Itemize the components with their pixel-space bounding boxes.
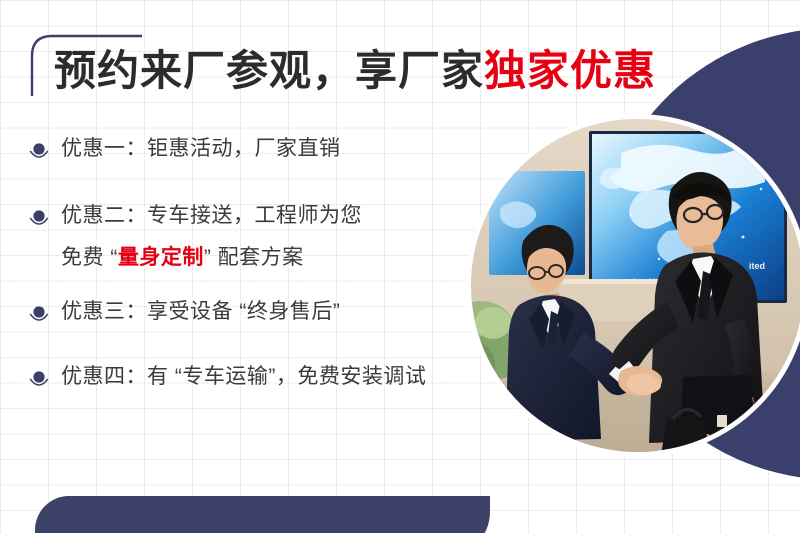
- subtext-highlight: 量身定制: [118, 246, 204, 269]
- circle-arc-bullet-icon: [28, 206, 50, 232]
- handshake-illustration: ing United ited: [471, 119, 800, 452]
- circle-arc-bullet-icon: [28, 367, 50, 393]
- list-item-text: 优惠三：享受设备 “终身售后”: [61, 299, 458, 325]
- list-item: 优惠二：专车接送，工程师为您 免费 “量身定制” 配套方案: [28, 203, 458, 272]
- navy-bottom-bar: [35, 496, 490, 533]
- list-item-subtext: 免费 “量身定制” 配套方案: [61, 245, 362, 271]
- circle-arc-bullet-icon: [28, 302, 50, 328]
- subtext-suffix: ” 配套方案: [204, 246, 304, 269]
- headline-highlight: 独家优惠: [484, 47, 656, 94]
- subtext-prefix: 免费 “: [61, 246, 118, 269]
- promo-banner: ing United ited: [0, 0, 800, 533]
- business-handshake-photo: ing United ited: [466, 114, 800, 457]
- list-item: 优惠一：钜惠活动，厂家直销: [28, 136, 458, 165]
- benefit-list: 优惠一：钜惠活动，厂家直销 优惠二：专车接送，工程师为您 免费 “量身定制” 配…: [28, 136, 458, 393]
- list-item-text: 优惠二：专车接送，工程师为您: [61, 203, 362, 229]
- list-item: 优惠四：有 “专车运输”，免费安装调试: [28, 364, 458, 393]
- list-item: 优惠三：享受设备 “终身售后”: [28, 299, 458, 328]
- list-item-text: 优惠一：钜惠活动，厂家直销: [61, 136, 458, 162]
- list-item-text: 优惠四：有 “专车运输”，免费安装调试: [61, 364, 458, 390]
- page-title: 预约来厂参观，享厂家独家优惠: [54, 47, 656, 95]
- circle-arc-bullet-icon: [28, 139, 50, 165]
- headline-plain: 预约来厂参观，享厂家: [54, 47, 484, 94]
- svg-text:ited: ited: [749, 261, 765, 271]
- photo-clip: ing United ited: [471, 119, 800, 452]
